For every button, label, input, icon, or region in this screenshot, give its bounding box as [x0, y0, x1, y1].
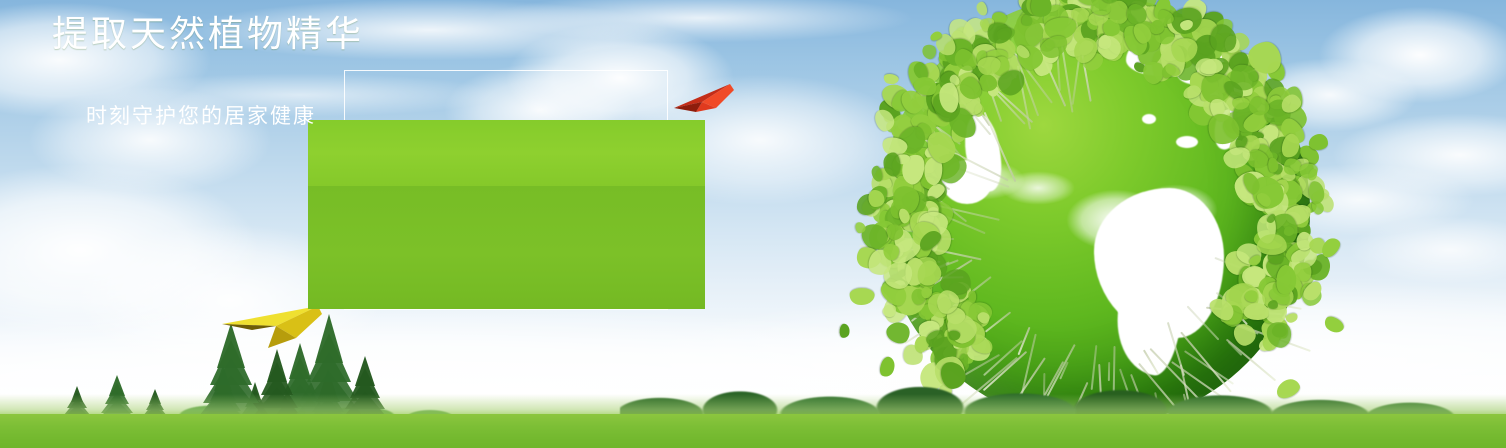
panel-bottom-band	[308, 186, 705, 309]
banner-subline: 时刻守护您的居家健康	[86, 104, 316, 130]
yellow-paper-plane-icon	[222, 302, 324, 352]
continent-shape	[1142, 114, 1156, 124]
red-paper-plane-icon	[672, 82, 734, 118]
eco-hero-banner: 提取天然植物精华 时刻守护您的居家健康	[0, 0, 1506, 448]
banner-headline: 提取天然植物精华	[52, 14, 364, 54]
promo-text-panel	[308, 120, 705, 309]
panel-top-band	[308, 120, 705, 186]
continent-shape	[1176, 136, 1198, 148]
grass-field	[0, 414, 1506, 448]
